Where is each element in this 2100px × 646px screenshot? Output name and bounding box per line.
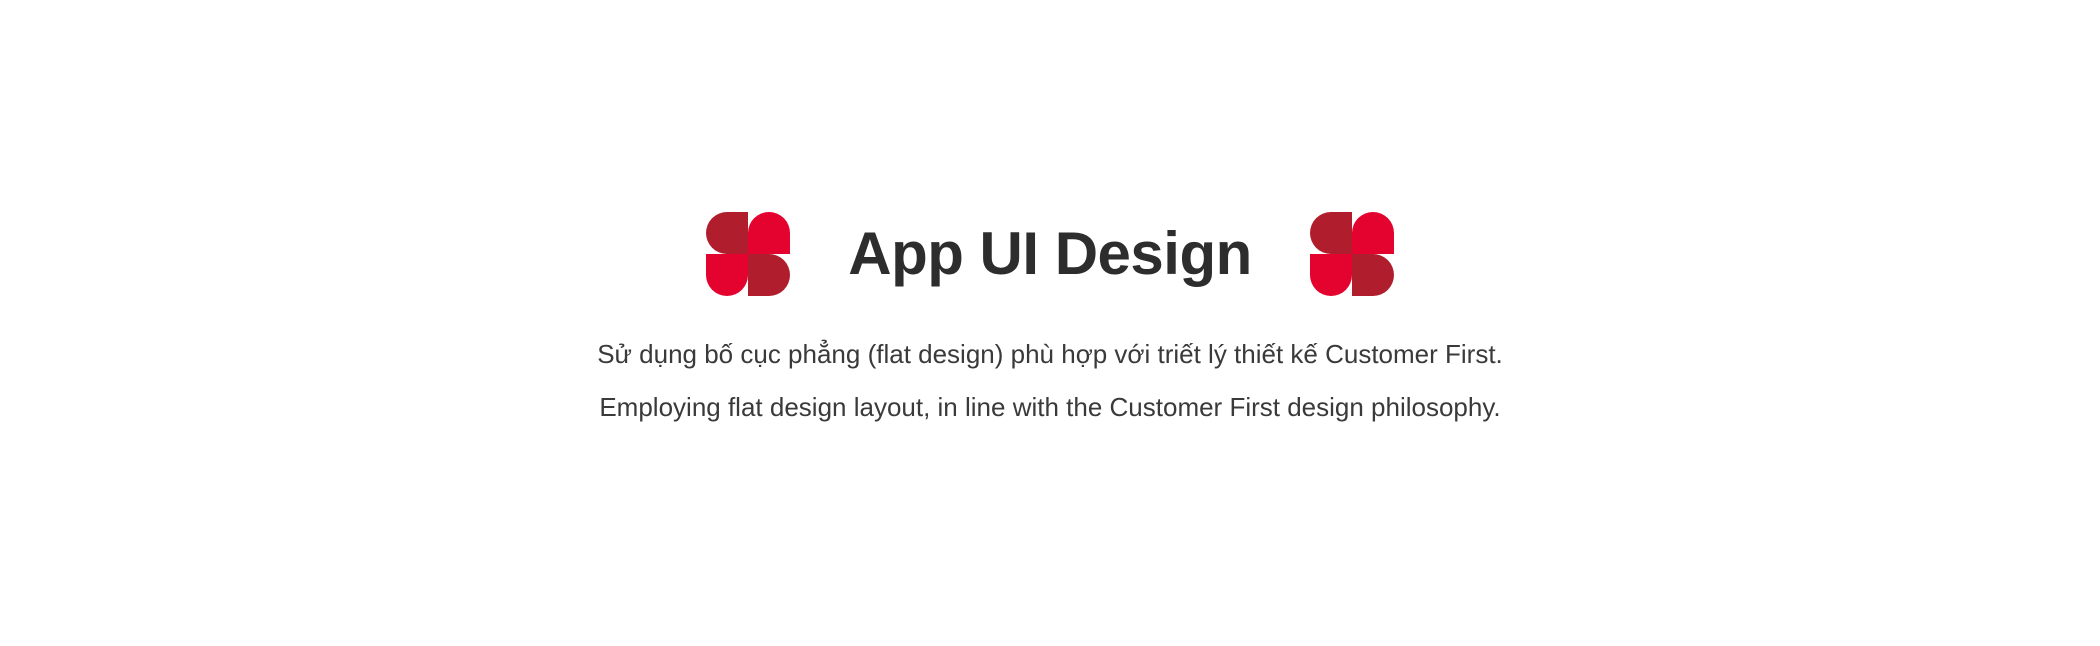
subtitle-english: Employing flat design layout, in line wi… — [599, 391, 1500, 424]
pinwheel-logo-icon-left — [706, 212, 790, 296]
pinwheel-petal-bottom-right — [706, 254, 748, 296]
pinwheel-petal-top-right — [1352, 254, 1394, 296]
pinwheel-logo-icon-right — [1310, 212, 1394, 296]
pinwheel-petal-top-left — [1352, 212, 1394, 254]
pinwheel-petal-bottom-left — [706, 212, 748, 254]
header-row: App UI Design — [0, 206, 2100, 302]
pinwheel-petal-bottom-right — [1310, 254, 1352, 296]
pinwheel-petal-top-left — [748, 212, 790, 254]
subtitle-vietnamese: Sử dụng bố cục phẳng (flat design) phù h… — [597, 338, 1503, 371]
slide-canvas: App UI Design Sử dụng bố cục phẳng (flat… — [0, 0, 2100, 646]
page-title: App UI Design — [848, 224, 1252, 284]
pinwheel-petal-bottom-left — [1310, 212, 1352, 254]
subtitle-block: Sử dụng bố cục phẳng (flat design) phù h… — [0, 338, 2100, 423]
pinwheel-petal-top-right — [748, 254, 790, 296]
